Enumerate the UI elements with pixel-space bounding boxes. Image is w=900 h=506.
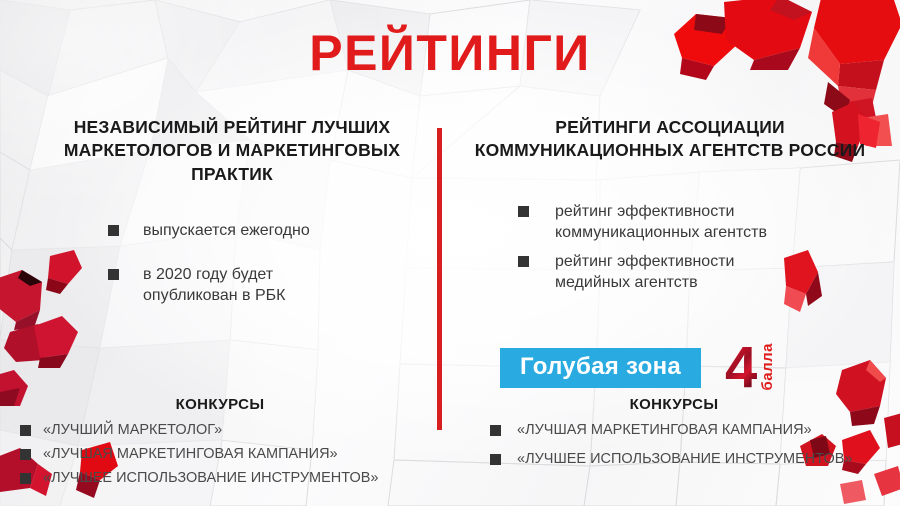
- bullet-square-icon: [490, 454, 501, 465]
- left-column-heading: НЕЗАВИСИМЫЙ РЕЙТИНГ ЛУЧШИХ МАРКЕТОЛОГОВ …: [36, 116, 428, 186]
- list-item: «ЛУЧШЕЕ ИСПОЛЬЗОВАНИЕ ИНСТРУМЕНТОВ»: [490, 452, 880, 468]
- bullet-square-icon: [20, 449, 31, 460]
- right-column-heading: РЕЙТИНГИ АССОЦИАЦИИ КОММУНИКАЦИОННЫХ АГЕ…: [468, 116, 872, 163]
- left-contests-title: КОНКУРСЫ: [20, 396, 420, 413]
- bullet-square-icon: [490, 425, 501, 436]
- bullet-square-icon: [108, 269, 119, 280]
- bullet-square-icon: [108, 225, 119, 236]
- list-item-label: «ЛУЧШЕЕ ИСПОЛЬЗОВАНИЕ ИНСТРУМЕНТОВ»: [43, 471, 379, 487]
- left-bullet-list: выпускается ежегодно в 2020 году будет о…: [36, 220, 428, 306]
- right-contests-list: «ЛУЧШАЯ МАРКЕТИНГОВАЯ КАМПАНИЯ» «ЛУЧШЕЕ …: [468, 423, 880, 468]
- list-item-label: в 2020 году будет опубликован в РБК: [143, 264, 323, 306]
- left-column: НЕЗАВИСИМЫЙ РЕЙТИНГ ЛУЧШИХ МАРКЕТОЛОГОВ …: [36, 116, 428, 329]
- list-item: «ЛУЧШАЯ МАРКЕТИНГОВАЯ КАМПАНИЯ»: [20, 447, 420, 463]
- score-unit-label: балла: [760, 343, 775, 391]
- list-item: «ЛУЧШЕЕ ИСПОЛЬЗОВАНИЕ ИНСТРУМЕНТОВ»: [20, 471, 420, 487]
- bullet-square-icon: [518, 206, 529, 217]
- right-column: РЕЙТИНГИ АССОЦИАЦИИ КОММУНИКАЦИОННЫХ АГЕ…: [468, 116, 872, 301]
- right-bullet-list: рейтинг эффективности коммуникационных а…: [468, 201, 872, 293]
- list-item-label: «ЛУЧШЕЕ ИСПОЛЬЗОВАНИЕ ИНСТРУМЕНТОВ»: [517, 452, 853, 468]
- list-item: «ЛУЧШИЙ МАРКЕТОЛОГ»: [20, 423, 420, 439]
- list-item: рейтинг эффективности медийных агентств: [518, 251, 872, 293]
- list-item: выпускается ежегодно: [108, 220, 428, 241]
- column-divider: [437, 128, 442, 430]
- status-badge: Голубая зона: [500, 348, 701, 388]
- page-title: РЕЙТИНГИ: [0, 28, 900, 78]
- list-item-label: «ЛУЧШАЯ МАРКЕТИНГОВАЯ КАМПАНИЯ»: [517, 423, 812, 439]
- list-item-label: «ЛУЧШИЙ МАРКЕТОЛОГ»: [43, 423, 222, 439]
- bullet-square-icon: [20, 425, 31, 436]
- list-item: рейтинг эффективности коммуникационных а…: [518, 201, 872, 243]
- score-group: 4 балла: [725, 343, 775, 393]
- right-contests-title: КОНКУРСЫ: [468, 396, 880, 413]
- slide-canvas: РЕЙТИНГИ НЕЗАВИСИМЫЙ РЕЙТИНГ ЛУЧШИХ МАРК…: [0, 0, 900, 506]
- list-item: «ЛУЧШАЯ МАРКЕТИНГОВАЯ КАМПАНИЯ»: [490, 423, 880, 439]
- score-value: 4: [725, 343, 757, 392]
- list-item-label: «ЛУЧШАЯ МАРКЕТИНГОВАЯ КАМПАНИЯ»: [43, 447, 338, 463]
- list-item: в 2020 году будет опубликован в РБК: [108, 264, 428, 306]
- bullet-square-icon: [20, 473, 31, 484]
- bullet-square-icon: [518, 256, 529, 267]
- list-item-label: выпускается ежегодно: [143, 220, 310, 241]
- left-contests-list: «ЛУЧШИЙ МАРКЕТОЛОГ» «ЛУЧШАЯ МАРКЕТИНГОВА…: [20, 423, 420, 487]
- zone-score-row: Голубая зона 4 балла: [500, 343, 775, 393]
- left-contests-block: КОНКУРСЫ «ЛУЧШИЙ МАРКЕТОЛОГ» «ЛУЧШАЯ МАР…: [20, 396, 420, 495]
- right-contests-block: КОНКУРСЫ «ЛУЧШАЯ МАРКЕТИНГОВАЯ КАМПАНИЯ»…: [468, 396, 880, 481]
- list-item-label: рейтинг эффективности медийных агентств: [555, 251, 783, 293]
- list-item-label: рейтинг эффективности коммуникационных а…: [555, 201, 799, 243]
